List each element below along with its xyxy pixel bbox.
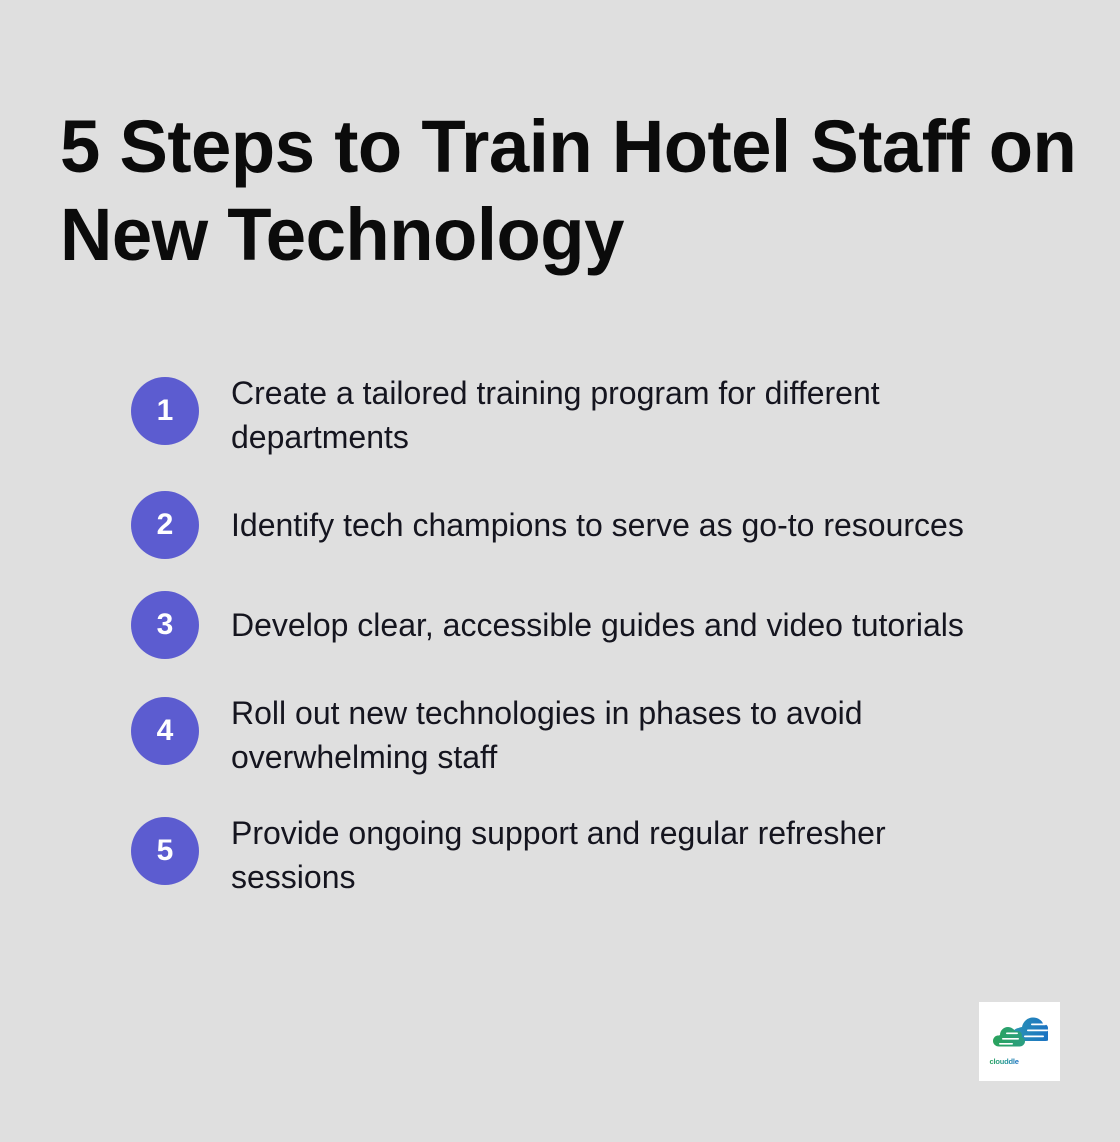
list-item: 3 Develop clear, accessible guides and v… [131,591,1031,659]
list-item: 1 Create a tailored training program for… [131,371,1031,459]
step-number-badge-3: 3 [131,591,199,659]
step-text-4: Roll out new technologies in phases to a… [231,691,991,779]
step-number-badge-5: 5 [131,817,199,885]
page-title-line-1: 5 Steps to Train Hotel Staff on [60,103,1011,191]
step-text-2: Identify tech champions to serve as go-t… [231,503,991,547]
page-title: 5 Steps to Train Hotel Staff on New Tech… [60,103,1030,279]
list-item: 2 Identify tech champions to serve as go… [131,491,1031,559]
step-text-5: Provide ongoing support and regular refr… [231,811,991,899]
brand-logo-card: clouddle [979,1002,1060,1081]
step-number-badge-1: 1 [131,377,199,445]
step-number-badge-2: 2 [131,491,199,559]
infographic-canvas: 5 Steps to Train Hotel Staff on New Tech… [0,0,1120,1142]
list-item: 5 Provide ongoing support and regular re… [131,811,1031,899]
page-title-line-2: New Technology [60,191,1011,279]
brand-wordmark: clouddle [989,1053,1051,1069]
brand-wordmark-text: clouddle [989,1057,1018,1066]
clouddle-cloud-logo-icon [992,1016,1048,1052]
step-text-1: Create a tailored training program for d… [231,371,991,459]
step-number-badge-4: 4 [131,697,199,765]
step-text-3: Develop clear, accessible guides and vid… [231,603,991,647]
steps-list: 1 Create a tailored training program for… [131,371,1031,899]
list-item: 4 Roll out new technologies in phases to… [131,691,1031,779]
